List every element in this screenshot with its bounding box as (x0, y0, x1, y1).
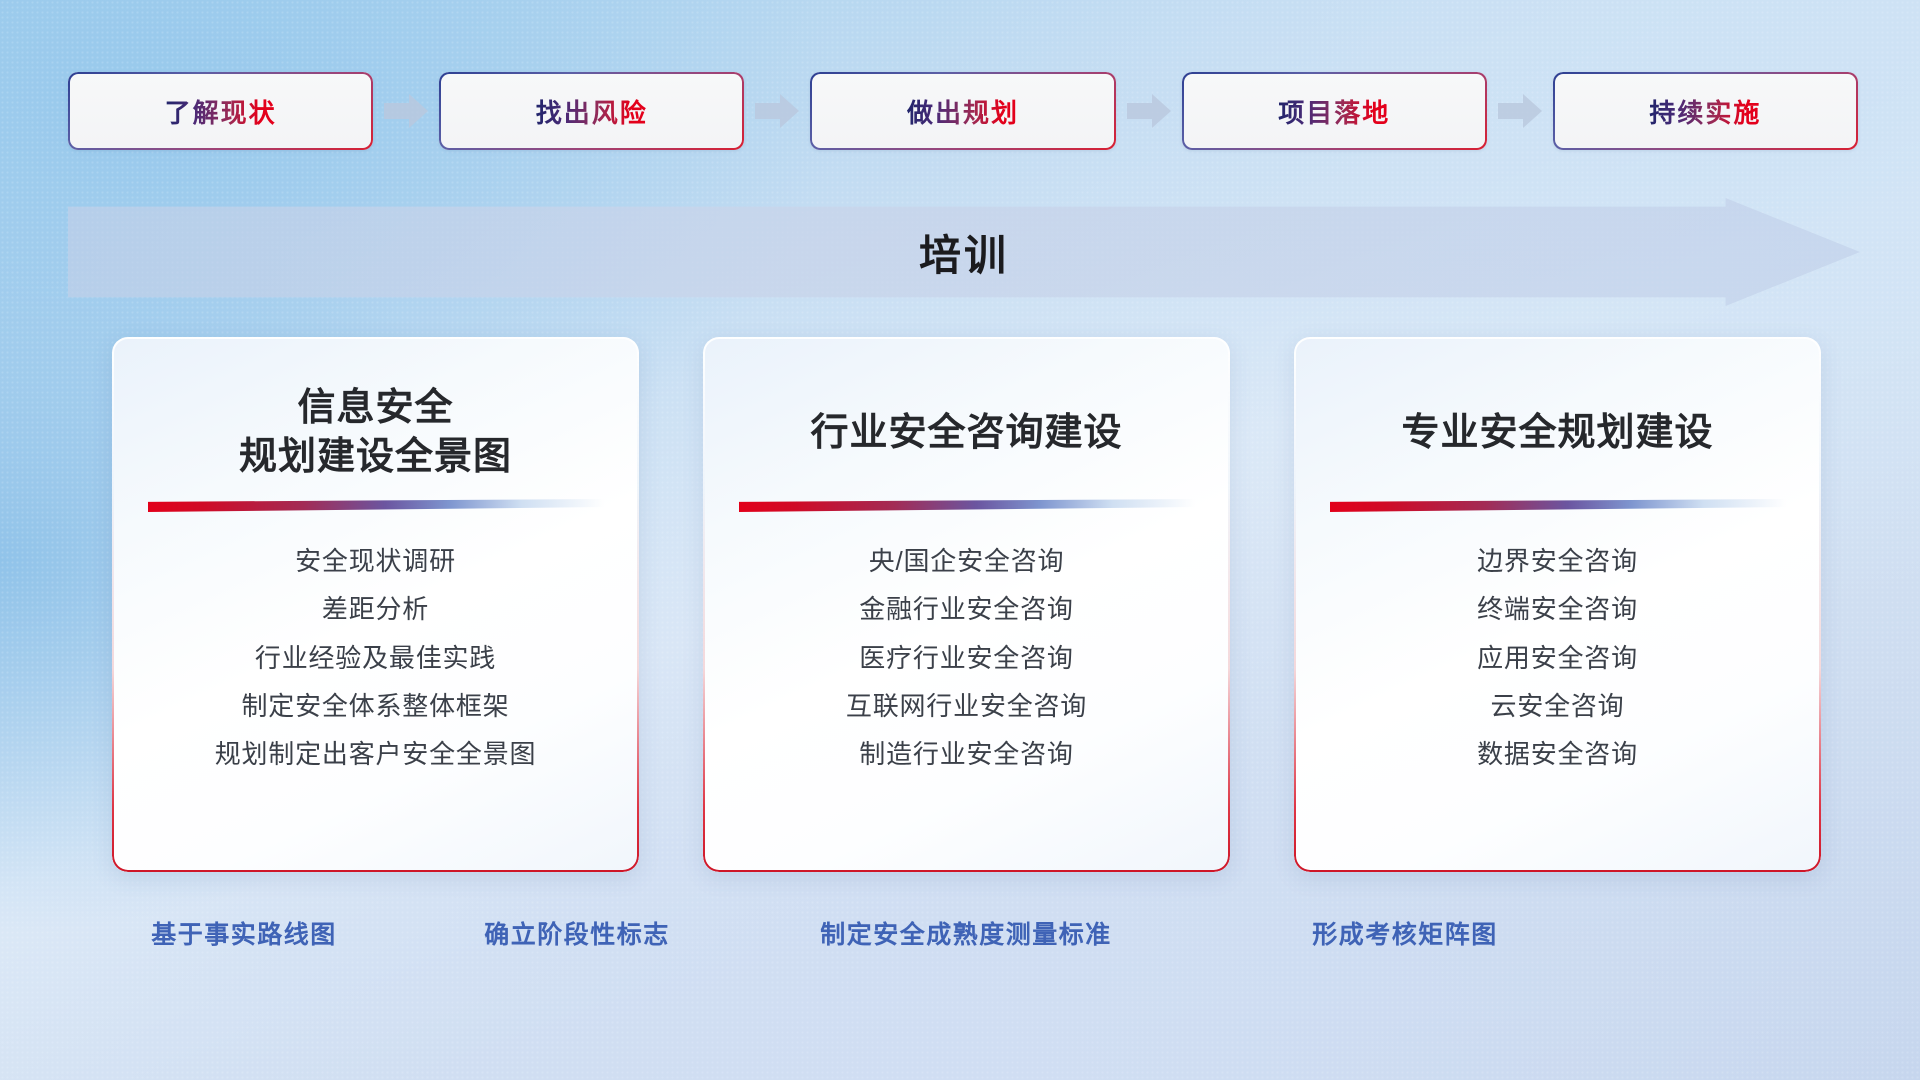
step-box-2[interactable]: 找出风险 (439, 72, 744, 150)
list-item: 差距分析 (322, 592, 429, 626)
card-divider-2 (739, 499, 1195, 512)
step-label-4: 项目落地 (1278, 93, 1390, 130)
step-arrow-icon-1 (373, 72, 439, 150)
list-item: 央/国企安全咨询 (869, 544, 1065, 578)
list-item: 边界安全咨询 (1477, 544, 1638, 578)
footer-caption-group: 基于事实路线图 确立阶段性标志 制定安全成熟度测量标准 形成考核矩阵图 (0, 915, 1920, 961)
list-item: 医疗行业安全咨询 (859, 641, 1073, 675)
step-arrow-icon-2 (744, 72, 810, 150)
list-item: 云安全咨询 (1490, 689, 1624, 723)
card-list-1: 安全现状调研 差距分析 行业经验及最佳实践 制定安全体系整体框架 规划制定出客户… (146, 544, 605, 772)
step-box-4[interactable]: 项目落地 (1182, 72, 1487, 150)
step-flow: 了解现状 找出风险 做出规划 项目落地 持续实施 (68, 72, 1858, 150)
card-divider-1 (148, 499, 604, 512)
list-item: 安全现状调研 (295, 544, 456, 578)
step-label-2: 找出风险 (536, 93, 648, 130)
list-item: 数据安全咨询 (1477, 737, 1638, 771)
card-title-1: 信息安全 规划建设全景图 (239, 381, 512, 485)
list-item: 金融行业安全咨询 (859, 592, 1073, 626)
step-label-1: 了解现状 (165, 93, 277, 130)
footer-caption-2: 确立阶段性标志 (484, 915, 670, 951)
step-box-1[interactable]: 了解现状 (68, 72, 373, 150)
list-item: 行业经验及最佳实践 (255, 641, 496, 675)
card-2[interactable]: 行业安全咨询建设 央/国企安全咨询 金融行业安全咨询 医疗行业安全咨询 互联网行… (703, 337, 1230, 872)
step-box-3[interactable]: 做出规划 (810, 72, 1115, 150)
card-list-3: 边界安全咨询 终端安全咨询 应用安全咨询 云安全咨询 数据安全咨询 (1328, 544, 1787, 772)
footer-caption-1: 基于事实路线图 (151, 915, 337, 951)
step-arrow-icon-3 (1116, 72, 1182, 150)
card-list-2: 央/国企安全咨询 金融行业安全咨询 医疗行业安全咨询 互联网行业安全咨询 制造行… (737, 544, 1196, 772)
card-title-2: 行业安全咨询建设 (810, 381, 1122, 485)
step-label-3: 做出规划 (907, 93, 1019, 130)
banner-title: 培训 (68, 198, 1860, 306)
list-item: 规划制定出客户安全全景图 (215, 737, 537, 771)
training-banner: 培训 (68, 198, 1860, 306)
card-divider-3 (1330, 499, 1786, 512)
list-item: 应用安全咨询 (1477, 641, 1638, 675)
card-1[interactable]: 信息安全 规划建设全景图 安全现状调研 差距分析 行业经验及最佳实践 制定安全体… (112, 337, 639, 872)
list-item: 终端安全咨询 (1477, 592, 1638, 626)
footer-caption-4: 形成考核矩阵图 (1312, 915, 1498, 951)
card-3[interactable]: 专业安全规划建设 边界安全咨询 终端安全咨询 应用安全咨询 云安全咨询 数据安全… (1294, 337, 1821, 872)
footer-caption-3: 制定安全成熟度测量标准 (820, 915, 1112, 951)
card-group: 信息安全 规划建设全景图 安全现状调研 差距分析 行业经验及最佳实践 制定安全体… (112, 337, 1822, 872)
list-item: 制定安全体系整体框架 (241, 689, 509, 723)
step-box-5[interactable]: 持续实施 (1553, 72, 1858, 150)
step-label-5: 持续实施 (1649, 93, 1761, 130)
list-item: 制造行业安全咨询 (859, 737, 1073, 771)
card-title-3: 专业安全规划建设 (1401, 381, 1713, 485)
list-item: 互联网行业安全咨询 (846, 689, 1087, 723)
step-arrow-icon-4 (1487, 72, 1553, 150)
